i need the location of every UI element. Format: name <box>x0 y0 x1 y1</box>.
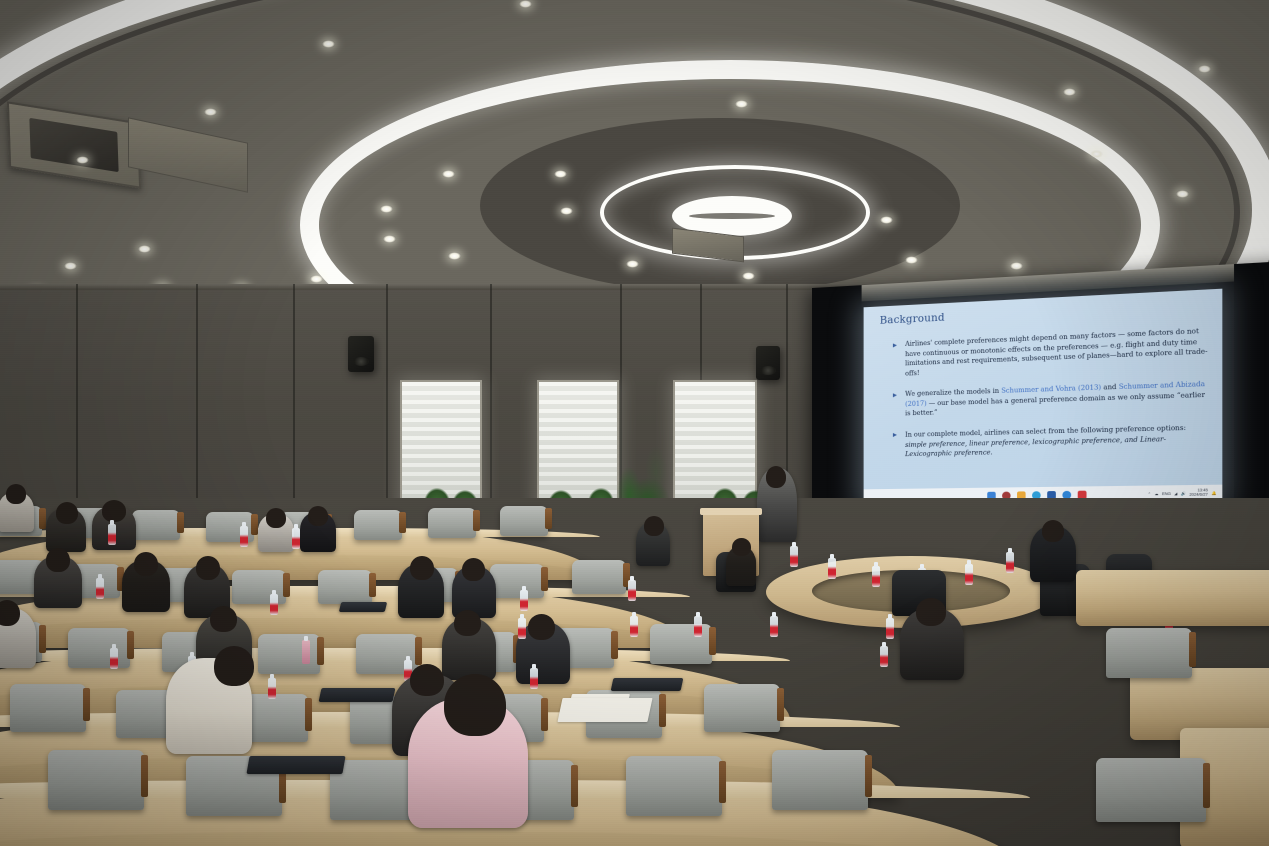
water-bottle <box>965 564 973 585</box>
water-bottle <box>520 590 528 611</box>
wall-speaker-right <box>756 346 780 380</box>
chair-wood-trim <box>415 637 422 665</box>
audience-head <box>102 500 126 522</box>
bullet-2-seg-3: and <box>1101 384 1119 392</box>
chair-wood-trim <box>283 573 290 597</box>
lecture-hall-photo: Background Airlines' complete preference… <box>0 0 1269 846</box>
recessed-downlight <box>626 260 639 268</box>
water-bottle <box>518 618 526 639</box>
bullet-3-preference-options: simple preference, linear preference, le… <box>905 435 1166 458</box>
wall-speaker-left <box>348 336 374 372</box>
water-bottle <box>108 524 116 545</box>
recessed-downlight <box>1010 262 1023 270</box>
water-bottle <box>828 558 836 579</box>
laptop[interactable] <box>246 756 345 774</box>
recessed-downlight <box>1090 150 1103 158</box>
audience-head <box>46 548 70 572</box>
notification-bell-icon[interactable]: 🔔 <box>1211 491 1216 495</box>
lecture-chair[interactable] <box>258 634 320 674</box>
chair-wood-trim <box>545 508 552 529</box>
show-hidden-icons-chevron[interactable]: ⌃ <box>1148 492 1151 496</box>
recessed-downlight <box>742 272 755 280</box>
network-icon[interactable]: ◢ <box>1174 492 1177 496</box>
water-bottle <box>694 616 702 637</box>
slide-title: Background <box>880 312 945 326</box>
water-bottle <box>1006 552 1014 573</box>
input-method-indicator[interactable]: ENG <box>1162 492 1171 496</box>
recessed-downlight <box>138 245 151 253</box>
audience-head <box>644 516 664 536</box>
slide-bullet-list: Airlines' complete preferences might dep… <box>892 326 1211 471</box>
recessed-downlight <box>64 262 77 270</box>
audience-head <box>6 484 26 504</box>
chair-wood-trim <box>39 508 46 529</box>
lecture-chair[interactable] <box>704 684 780 732</box>
water-bottle <box>886 618 894 639</box>
recessed-downlight <box>204 108 217 116</box>
audience-head <box>916 598 946 626</box>
recessed-downlight <box>1063 88 1076 96</box>
recessed-downlight <box>76 156 89 164</box>
water-bottle <box>790 546 798 567</box>
audience-head <box>214 646 254 686</box>
chair-wood-trim <box>1189 632 1196 667</box>
onedrive-icon[interactable]: ☁ <box>1154 492 1158 496</box>
presenter-head <box>766 466 786 488</box>
recessed-downlight <box>1198 65 1211 73</box>
volume-icon[interactable]: 🔊 <box>1181 492 1186 496</box>
audience-head <box>462 558 485 581</box>
water-bottle <box>770 616 778 637</box>
lectern-top-surface <box>700 508 762 515</box>
slide-bullet-1: Airlines' complete preferences might dep… <box>892 326 1211 379</box>
chair-wood-trim <box>659 694 666 728</box>
water-bottle <box>270 594 278 615</box>
audience-head <box>308 506 328 526</box>
chair-wood-trim <box>251 514 258 535</box>
audience-head <box>528 614 555 640</box>
chair-wood-trim <box>709 627 716 655</box>
audience-head <box>410 664 444 696</box>
recessed-downlight <box>442 170 455 178</box>
recessed-downlight <box>448 252 461 260</box>
bullet-triangle-icon <box>893 343 897 347</box>
recessed-downlight <box>383 235 396 243</box>
lecture-chair[interactable] <box>500 506 548 536</box>
chair-wood-trim <box>369 573 376 597</box>
desk-right-upper <box>1076 570 1269 626</box>
presentation-slide: Background Airlines' complete preference… <box>864 289 1223 506</box>
slide-bullet-2: We generalize the models in Schummer and… <box>892 380 1211 420</box>
recessed-downlight <box>560 207 573 215</box>
citation-schummer-vohra: Schummer and Vohra (2013) <box>1001 384 1101 395</box>
chair-wood-trim <box>1203 763 1210 808</box>
recessed-downlight <box>519 0 532 8</box>
chair-wood-trim <box>177 512 184 533</box>
lecture-chair[interactable] <box>48 750 144 810</box>
recessed-downlight <box>380 205 393 213</box>
audience-head <box>56 502 78 524</box>
audience-head <box>410 556 434 580</box>
chair-wood-trim <box>865 755 872 797</box>
lecture-chair[interactable] <box>318 570 372 604</box>
chair-wood-trim <box>611 631 618 659</box>
water-bottle <box>240 526 248 547</box>
water-bottle <box>292 528 300 549</box>
chair-wood-trim <box>83 688 90 722</box>
lecture-chair[interactable] <box>626 756 722 816</box>
laptop[interactable] <box>339 602 387 612</box>
chair-wood-trim <box>719 761 726 803</box>
slide-bullet-3: In our complete model, airlines can sele… <box>892 423 1211 460</box>
audience-head <box>134 552 158 576</box>
water-bottle <box>110 648 118 669</box>
bullet-triangle-icon <box>893 393 897 397</box>
audience-head <box>266 508 286 528</box>
chair-wood-trim <box>777 688 784 722</box>
audience-head-foreground <box>444 674 506 736</box>
recessed-downlight <box>310 275 323 283</box>
chair-wood-trim <box>399 512 406 533</box>
recessed-downlight <box>880 216 893 224</box>
lecture-chair[interactable] <box>354 510 402 540</box>
lecture-chair[interactable] <box>428 508 476 538</box>
lecture-chair[interactable] <box>490 564 544 598</box>
recessed-downlight <box>322 40 335 48</box>
water-bottle <box>630 616 638 637</box>
bullet-1-text: Airlines' complete preferences might dep… <box>905 328 1207 377</box>
audience-head <box>210 606 237 632</box>
chair-wood-trim <box>305 698 312 732</box>
recessed-downlight <box>735 100 748 108</box>
recessed-downlight <box>1176 190 1189 198</box>
water-bottle <box>96 578 104 599</box>
audience-head <box>0 600 20 626</box>
audience-head <box>1042 520 1064 542</box>
chair-wood-trim <box>141 755 148 797</box>
lecture-chair[interactable] <box>132 510 180 540</box>
water-bottle <box>880 646 888 667</box>
recessed-downlight <box>905 256 918 264</box>
taskbar-clock[interactable]: 13:45 2024/6/27 <box>1189 489 1207 497</box>
lecture-chair[interactable] <box>1106 628 1192 678</box>
lecture-chair[interactable] <box>10 684 86 732</box>
recessed-downlight <box>554 170 567 178</box>
lecture-chair[interactable] <box>572 560 626 594</box>
clock-date: 2024/6/27 <box>1189 492 1207 497</box>
laptop[interactable] <box>611 678 684 691</box>
chair-wood-trim <box>317 637 324 665</box>
chair-wood-trim <box>39 625 46 653</box>
water-bottle <box>530 668 538 689</box>
water-bottle <box>268 678 276 699</box>
audience-head <box>454 610 481 636</box>
audience-head <box>196 556 220 580</box>
chair-wood-trim <box>571 765 578 807</box>
chair-wood-trim <box>473 510 480 531</box>
chair-wood-trim <box>541 567 548 591</box>
seating-area <box>0 498 1269 846</box>
bullet-2-seg-1: We generalize the models in <box>905 388 1001 398</box>
water-bottle <box>628 580 636 601</box>
chair-wood-trim <box>127 631 134 659</box>
ceiling <box>0 0 1269 300</box>
bullet-triangle-icon <box>893 433 897 437</box>
lecture-chair[interactable] <box>772 750 868 810</box>
laptop[interactable] <box>319 688 396 702</box>
audience-head <box>732 538 751 556</box>
lecture-chair[interactable] <box>68 628 130 668</box>
water-bottle <box>872 566 880 587</box>
desk-front-panel <box>0 832 1030 846</box>
thermos-bottle <box>302 640 310 664</box>
chair-wood-trim <box>541 698 548 732</box>
lecture-chair[interactable] <box>650 624 712 664</box>
open-notebook <box>557 698 652 722</box>
lecture-chair[interactable] <box>1096 758 1206 822</box>
